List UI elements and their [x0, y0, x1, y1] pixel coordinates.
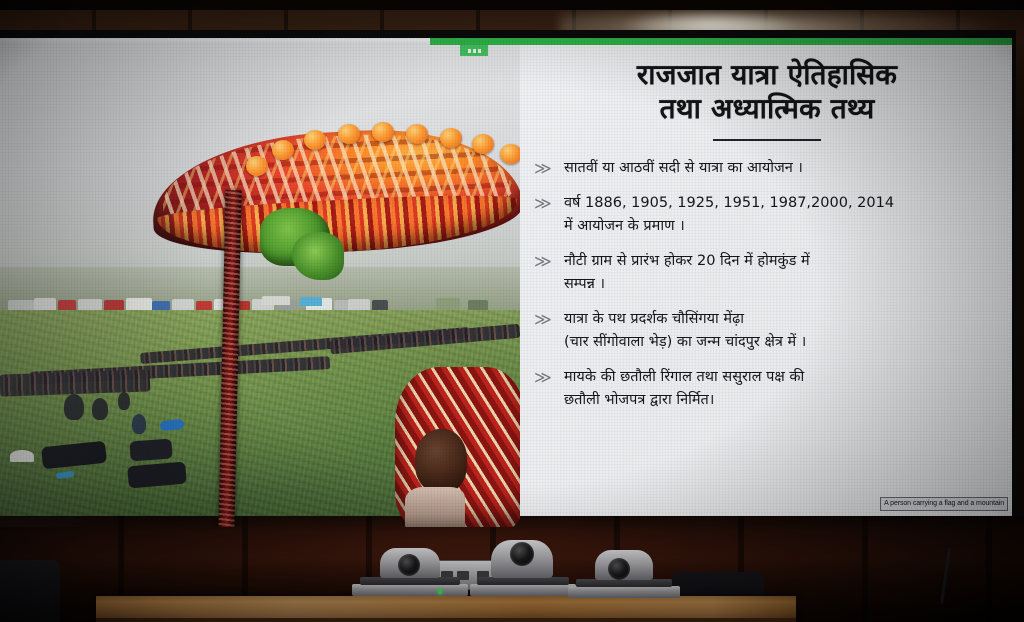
camera-lens-icon [510, 542, 534, 566]
camera-base-plate [470, 584, 576, 596]
chevron-bullet-icon: ≫ [534, 158, 564, 180]
bullet-text: नौटी ग्राम से प्रारंभ होकर 20 दिन में हो… [564, 250, 810, 296]
bullet-item: ≫ मायके की छतौली रिंगाल तथा ससुराल पक्ष … [530, 366, 1004, 412]
canopy-pompom [406, 124, 428, 144]
ptz-camera-right[interactable] [568, 556, 680, 598]
ceiling-shadow-strip [0, 0, 1024, 10]
chevron-bullet-icon: ≫ [534, 251, 564, 273]
camera-mount [576, 579, 672, 587]
photo-person [92, 398, 108, 420]
slide-bullet-list: ≫ सातवीं या आठवीं सदी से यात्रा का आयोजन… [530, 157, 1004, 412]
canopy-pompom [272, 140, 294, 160]
green-status-tab[interactable] [460, 45, 488, 56]
alt-text-caption-box[interactable]: A person carrying a flag and a mountain [880, 497, 1008, 511]
screenshot-stage: राजजात यात्रा ऐतिहासिक तथा अध्यात्मिक तथ… [0, 0, 1024, 622]
camera-mount [360, 577, 460, 585]
chevron-bullet-icon: ≫ [534, 309, 564, 331]
bullet-text: मायके की छतौली रिंगाल तथा ससुराल पक्ष की… [564, 366, 804, 412]
chair-left [0, 560, 60, 622]
photo-person [64, 394, 84, 420]
photo-person [132, 414, 146, 434]
tab-dot-icon [478, 49, 481, 53]
ptz-camera-left[interactable] [352, 552, 468, 596]
camera-lens-icon [398, 554, 420, 576]
bullet-line: छतौली भोजपत्र द्वारा निर्मित। [564, 389, 804, 412]
canopy-bearer-person [395, 367, 520, 527]
bearer-head [415, 429, 467, 493]
canopy-pompom [372, 122, 394, 142]
flower-canopy-chhatoli [152, 104, 520, 309]
bullet-item: ≫ यात्रा के पथ प्रदर्शक चौसिंगया मेंढ़ा … [530, 308, 1004, 354]
chevron-bullet-icon: ≫ [534, 193, 564, 215]
camera-status-led [438, 589, 442, 594]
photo-white-umbrella [10, 450, 34, 462]
bullet-text: यात्रा के पथ प्रदर्शक चौसिंगया मेंढ़ा (च… [564, 308, 806, 354]
chevron-bullet-icon: ≫ [534, 367, 564, 389]
bullet-line: सातवीं या आठवीं सदी से यात्रा का आयोजन । [564, 157, 803, 180]
canopy-pompom [338, 124, 360, 144]
camera-base-plate [568, 586, 680, 598]
slide-photo [0, 42, 520, 527]
slide-title-line-1: राजजात यात्रा ऐतिहासिक [530, 58, 1004, 92]
bullet-item: ≫ वर्ष 1886, 1905, 1925, 1951, 1987,2000… [530, 192, 1004, 238]
green-progress-bar[interactable] [430, 38, 1012, 45]
slide-title-line-2: तथा अध्यात्मिक तथ्य [530, 92, 1004, 126]
canopy-green-leaves-secondary [292, 232, 344, 280]
bullet-text: वर्ष 1886, 1905, 1925, 1951, 1987,2000, … [564, 192, 894, 238]
tab-dot-icon [473, 49, 476, 53]
camera-lens-icon [608, 558, 630, 580]
canopy-pompom [472, 134, 494, 154]
ptz-camera-center[interactable] [470, 544, 576, 596]
bullet-line: में आयोजन के प्रमाण । [564, 215, 894, 238]
led-video-wall[interactable]: राजजात यात्रा ऐतिहासिक तथा अध्यात्मिक तथ… [0, 38, 1012, 527]
bullet-text: सातवीं या आठवीं सदी से यात्रा का आयोजन । [564, 157, 803, 180]
bullet-line: नौटी ग्राम से प्रारंभ होकर 20 दिन में हो… [564, 250, 810, 273]
presentation-slide: राजजात यात्रा ऐतिहासिक तथा अध्यात्मिक तथ… [0, 38, 1012, 527]
desk-front-edge [96, 618, 796, 622]
camera-base-plate [352, 584, 468, 596]
canopy-pompom [440, 128, 462, 148]
canopy-pompom [246, 156, 268, 176]
bearer-cloth [405, 487, 465, 527]
bullet-item: ≫ सातवीं या आठवीं सदी से यात्रा का आयोजन… [530, 157, 1004, 180]
tab-dot-icon [468, 49, 471, 53]
bullet-line: मायके की छतौली रिंगाल तथा ससुराल पक्ष की [564, 366, 804, 389]
bullet-line: सम्पन्न । [564, 273, 810, 296]
canopy-pompom [500, 144, 520, 164]
photo-person [118, 392, 130, 410]
photo-ground-bag [129, 439, 172, 462]
bullet-line: वर्ष 1886, 1905, 1925, 1951, 1987,2000, … [564, 192, 894, 215]
camera-mount [477, 577, 568, 585]
title-divider [713, 139, 821, 141]
slide-text-column: राजजात यात्रा ऐतिहासिक तथा अध्यात्मिक तथ… [524, 44, 1012, 527]
bullet-line: (चार सींगोवाला भेड़) का जन्म चांदपुर क्ष… [564, 331, 806, 354]
bullet-line: यात्रा के पथ प्रदर्शक चौसिंगया मेंढ़ा [564, 308, 806, 331]
canopy-pompom [304, 130, 326, 150]
bullet-item: ≫ नौटी ग्राम से प्रारंभ होकर 20 दिन में … [530, 250, 1004, 296]
slide-title: राजजात यात्रा ऐतिहासिक तथा अध्यात्मिक तथ… [530, 58, 1004, 126]
